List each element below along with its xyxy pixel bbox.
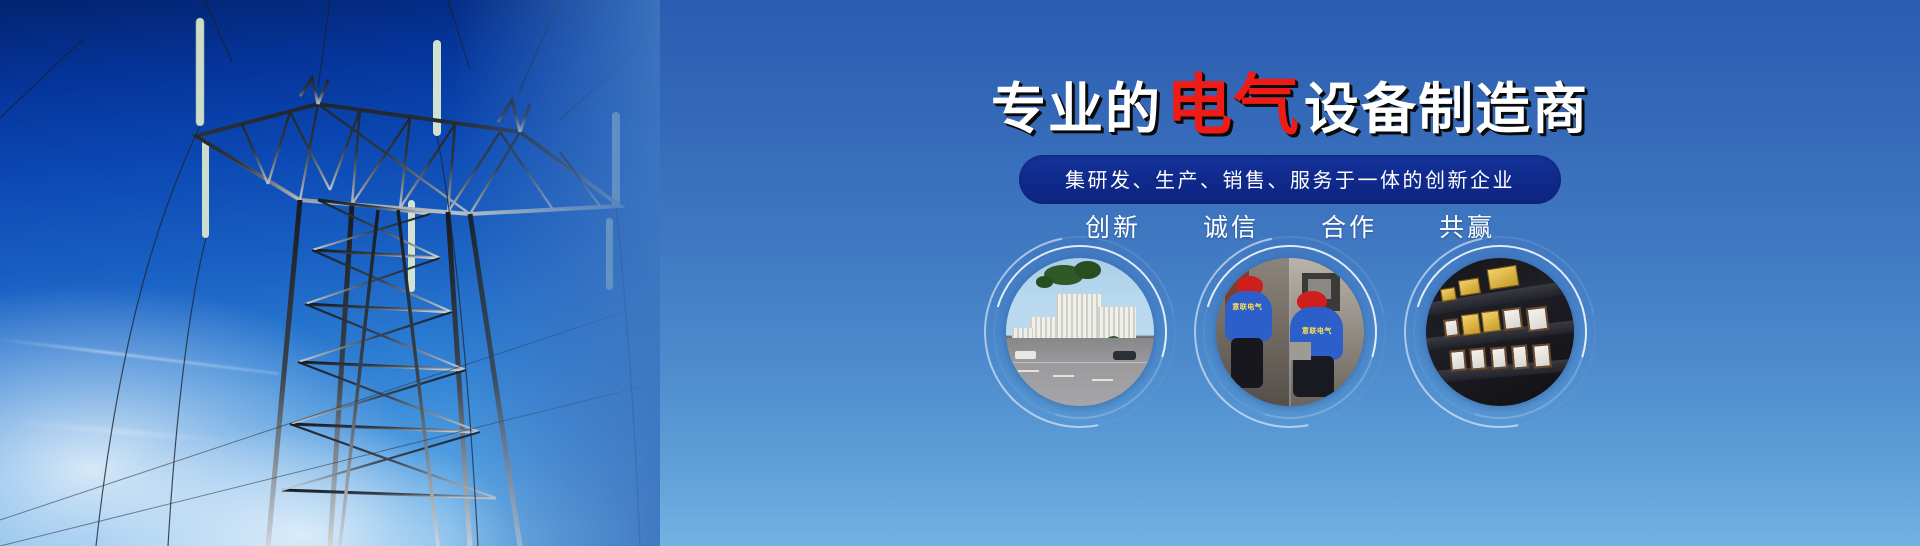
headline-part-two: 设备制造商	[1304, 78, 1589, 140]
photo-disc	[1426, 258, 1574, 406]
office-building-image	[1006, 258, 1154, 406]
circle-photo-office-building	[1006, 258, 1154, 406]
banner-content: 专业的电气设备制造商 集研发、生产、销售、服务于一体的创新企业 创新 诚信 合作…	[660, 0, 1920, 546]
circle-photo-row: 意联电气 意联电气	[660, 258, 1920, 406]
slogan-integrity: 诚信	[1203, 208, 1259, 244]
page-title: 专业的电气设备制造商	[660, 72, 1920, 138]
headline-highlight: 电气	[1162, 68, 1304, 142]
transmission-tower-photo	[0, 0, 660, 546]
technician-image: 意联电气 意联电气	[1216, 258, 1364, 406]
photo-edge-fade	[450, 0, 660, 546]
circle-photo-certificates	[1426, 258, 1574, 406]
subtitle-pill-label: 集研发、生产、销售、服务于一体的创新企业	[1065, 170, 1515, 192]
photo-disc	[1006, 258, 1154, 406]
subtitle-pill: 集研发、生产、销售、服务于一体的创新企业	[1019, 155, 1561, 204]
hero-banner: 专业的电气设备制造商 集研发、生产、销售、服务于一体的创新企业 创新 诚信 合作…	[0, 0, 1920, 546]
certificate-wall-image	[1426, 258, 1574, 406]
slogan-cooperation: 合作	[1321, 208, 1377, 244]
circle-photo-technicians: 意联电气 意联电气	[1216, 258, 1364, 406]
headline-part-one: 专业的	[991, 78, 1162, 140]
photo-disc: 意联电气 意联电气	[1216, 258, 1364, 406]
